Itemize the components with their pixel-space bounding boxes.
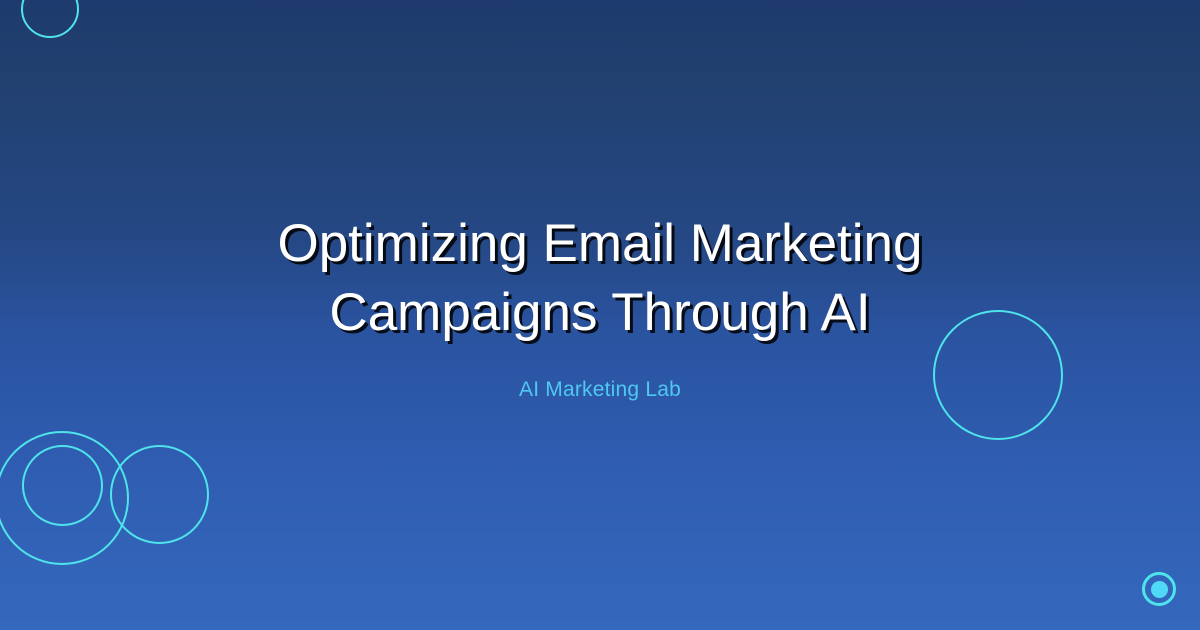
title-slide: Optimizing Email Marketing Campaigns Thr… bbox=[0, 0, 1200, 630]
slide-title: Optimizing Email Marketing Campaigns Thr… bbox=[190, 210, 1010, 348]
slide-content: Optimizing Email Marketing Campaigns Thr… bbox=[0, 0, 1200, 630]
slide-subtitle: AI Marketing Lab bbox=[519, 348, 681, 402]
